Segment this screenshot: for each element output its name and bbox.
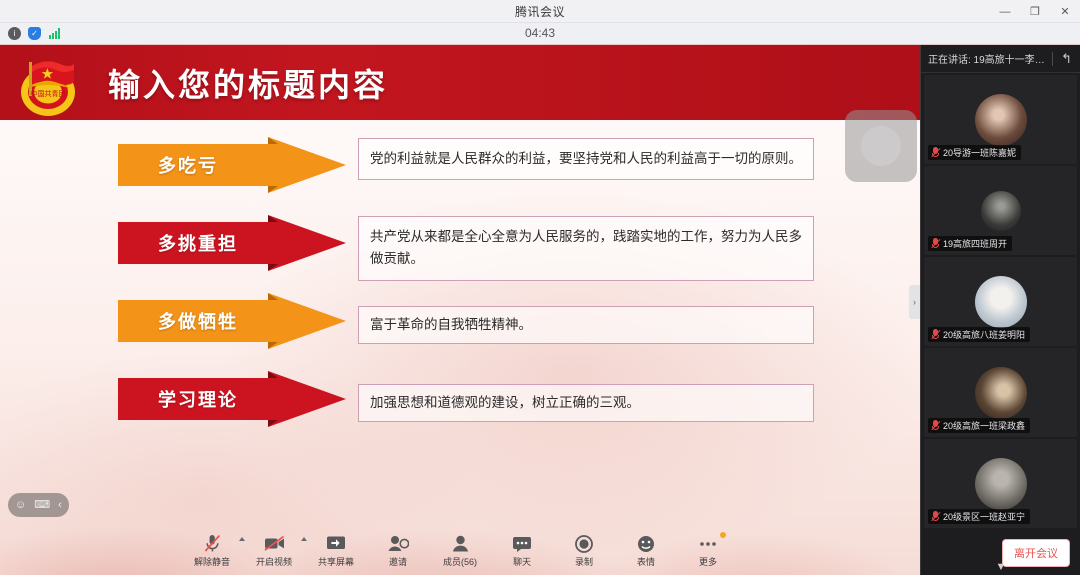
self-video-avatar bbox=[861, 126, 901, 166]
participant-name: 19高旅四班周开 bbox=[943, 237, 1007, 250]
microphone-muted-icon bbox=[931, 147, 940, 158]
audio-options-caret-icon[interactable] bbox=[239, 537, 245, 541]
participant-label: 20级高旅一班梁政鑫 bbox=[928, 418, 1030, 433]
leave-meeting-button[interactable]: 离开会议 bbox=[1002, 539, 1070, 567]
chat-bubble-icon bbox=[512, 534, 532, 553]
more-notification-badge bbox=[720, 532, 726, 538]
participant-label: 20级高旅八班姜明阳 bbox=[928, 327, 1030, 342]
microphone-muted-icon bbox=[204, 534, 221, 553]
toolbar-label: 聊天 bbox=[513, 555, 531, 568]
window-titlebar: 腾讯会议 — ❐ ✕ bbox=[0, 0, 1080, 23]
emoji-reaction-icon[interactable]: ☺ bbox=[15, 500, 26, 511]
keyboard-icon[interactable]: ⌨ bbox=[34, 500, 50, 511]
participant-label: 19高旅四班周开 bbox=[928, 236, 1012, 251]
toolbar-label: 表情 bbox=[637, 555, 655, 568]
toolbar-item-start-video[interactable]: 开启视频 bbox=[248, 529, 300, 573]
participant-tile[interactable]: 20级高旅八班姜明阳 bbox=[924, 257, 1077, 346]
arrow-shape: 多做牺牲 bbox=[118, 293, 346, 349]
toolbar-label: 更多 bbox=[699, 555, 717, 568]
share-screen-icon bbox=[326, 534, 346, 553]
avatar bbox=[975, 458, 1027, 510]
close-button[interactable]: ✕ bbox=[1050, 0, 1080, 23]
back-arrow-icon[interactable]: ↰ bbox=[1057, 51, 1076, 67]
camera-off-icon bbox=[264, 534, 285, 553]
collapse-left-icon[interactable]: ‹ bbox=[58, 500, 62, 511]
participant-panel: 正在讲话: 19高旅十一李祖... ↰ 20导游一班陈嘉妮 19高旅四班周开 bbox=[920, 45, 1080, 575]
participant-name: 20导游一班陈嘉妮 bbox=[943, 146, 1016, 159]
record-icon bbox=[575, 534, 593, 553]
arrow-shape: 多吃亏 bbox=[118, 137, 346, 193]
arrow-label: 多做牺牲 bbox=[158, 293, 238, 349]
toolbar-label: 共享屏幕 bbox=[318, 555, 354, 568]
row-description: 共产党从来都是全心全意为人民服务的，践踏实地的工作，努力为人民多做贡献。 bbox=[358, 216, 814, 281]
avatar bbox=[975, 367, 1027, 419]
participant-name: 20级景区一班赵亚宁 bbox=[943, 510, 1025, 523]
toolbar-item-share-screen[interactable]: 共享屏幕 bbox=[310, 529, 362, 573]
toolbar-item-emoji[interactable]: 表情 bbox=[620, 529, 672, 573]
participant-tiles[interactable]: 20导游一班陈嘉妮 19高旅四班周开 20级高旅八班姜明阳 bbox=[921, 73, 1080, 551]
participant-name: 20级高旅八班姜明阳 bbox=[943, 328, 1025, 341]
toolbar-label: 邀请 bbox=[389, 555, 407, 568]
participant-tile[interactable]: 20级高旅一班梁政鑫 bbox=[924, 348, 1077, 437]
avatar bbox=[975, 94, 1027, 146]
active-speaker-label: 正在讲话: 19高旅十一李祖... bbox=[928, 51, 1048, 66]
more-dots-icon bbox=[698, 534, 718, 553]
participant-label: 20导游一班陈嘉妮 bbox=[928, 145, 1021, 160]
participant-tile[interactable]: 19高旅四班周开 bbox=[924, 166, 1077, 255]
panel-header-divider bbox=[1052, 52, 1053, 66]
slide-content-rows: 多吃亏 党的利益就是人民群众的利益，要坚持党和人民的利益高于一切的原则。 多挑重… bbox=[0, 137, 920, 449]
meeting-toolbar: 解除静音 开启视频 共享屏幕 bbox=[0, 527, 920, 575]
microphone-muted-icon bbox=[931, 238, 940, 249]
participant-label: 20级景区一班赵亚宁 bbox=[928, 509, 1030, 524]
slide-row: 学习理论 加强思想和道德观的建设，树立正确的三观。 bbox=[0, 371, 920, 449]
arrow-shape: 多挑重担 bbox=[118, 215, 346, 271]
toolbar-item-invite[interactable]: 邀请 bbox=[372, 529, 424, 573]
window-title: 腾讯会议 bbox=[515, 3, 565, 20]
participant-tile[interactable]: 20导游一班陈嘉妮 bbox=[924, 75, 1077, 164]
arrow-label: 多挑重担 bbox=[158, 215, 238, 271]
communist-youth-league-emblem-icon: 中国共青团 bbox=[12, 48, 84, 120]
video-options-caret-icon[interactable] bbox=[301, 537, 307, 541]
shared-screen-stage: 中国共青团 输入您的标题内容 多吃亏 党的利益就是人民群众的利益，要坚持党和人民… bbox=[0, 45, 920, 575]
slide-row: 多挑重担 共产党从来都是全心全意为人民服务的，践踏实地的工作，努力为人民多做贡献… bbox=[0, 215, 920, 293]
toolbar-label: 录制 bbox=[575, 555, 593, 568]
avatar bbox=[981, 191, 1021, 231]
arrow-shape: 学习理论 bbox=[118, 371, 346, 427]
row-description: 党的利益就是人民群众的利益，要坚持党和人民的利益高于一切的原则。 bbox=[358, 138, 814, 180]
row-description: 富于革命的自我牺牲精神。 bbox=[358, 306, 814, 344]
self-video-bubble[interactable] bbox=[845, 110, 917, 182]
slide-header: 中国共青团 输入您的标题内容 bbox=[0, 45, 920, 120]
arrow-label: 多吃亏 bbox=[158, 137, 218, 193]
toolbar-item-chat[interactable]: 聊天 bbox=[496, 529, 548, 573]
invite-person-icon bbox=[388, 534, 409, 553]
maximize-button[interactable]: ❐ bbox=[1020, 0, 1050, 23]
slide-row: 多吃亏 党的利益就是人民群众的利益，要坚持党和人民的利益高于一切的原则。 bbox=[0, 137, 920, 215]
window-controls: — ❐ ✕ bbox=[990, 0, 1080, 23]
panel-collapse-handle[interactable]: › bbox=[909, 285, 920, 319]
slide-row: 多做牺牲 富于革命的自我牺牲精神。 bbox=[0, 293, 920, 371]
row-description: 加强思想和道德观的建设，树立正确的三观。 bbox=[358, 384, 814, 422]
participant-name: 20级高旅一班梁政鑫 bbox=[943, 419, 1025, 432]
toolbar-item-members[interactable]: 成员(56) bbox=[434, 529, 486, 573]
microphone-muted-icon bbox=[931, 329, 940, 340]
svg-text:中国共青团: 中国共青团 bbox=[31, 89, 66, 98]
participant-tile[interactable]: 20级景区一班赵亚宁 bbox=[924, 439, 1077, 528]
toolbar-item-record[interactable]: 录制 bbox=[558, 529, 610, 573]
annotation-mini-toolbar[interactable]: ☺ ⌨ ‹ bbox=[8, 493, 69, 517]
minimize-button[interactable]: — bbox=[990, 0, 1020, 23]
toolbar-label: 解除静音 bbox=[194, 555, 230, 568]
arrow-label: 学习理论 bbox=[158, 371, 238, 427]
toolbar-item-more[interactable]: 更多 bbox=[682, 529, 734, 573]
slide-title: 输入您的标题内容 bbox=[108, 60, 388, 106]
toolbar-label: 开启视频 bbox=[256, 555, 292, 568]
panel-header: 正在讲话: 19高旅十一李祖... ↰ bbox=[921, 45, 1080, 73]
toolbar-label: 成员(56) bbox=[443, 555, 477, 568]
avatar bbox=[975, 276, 1027, 328]
microphone-muted-icon bbox=[931, 420, 940, 431]
microphone-muted-icon bbox=[931, 511, 940, 522]
members-icon bbox=[451, 534, 470, 553]
emoji-icon bbox=[637, 534, 655, 553]
meeting-timer: 04:43 bbox=[0, 26, 1080, 40]
toolbar-item-unmute[interactable]: 解除静音 bbox=[186, 529, 238, 573]
